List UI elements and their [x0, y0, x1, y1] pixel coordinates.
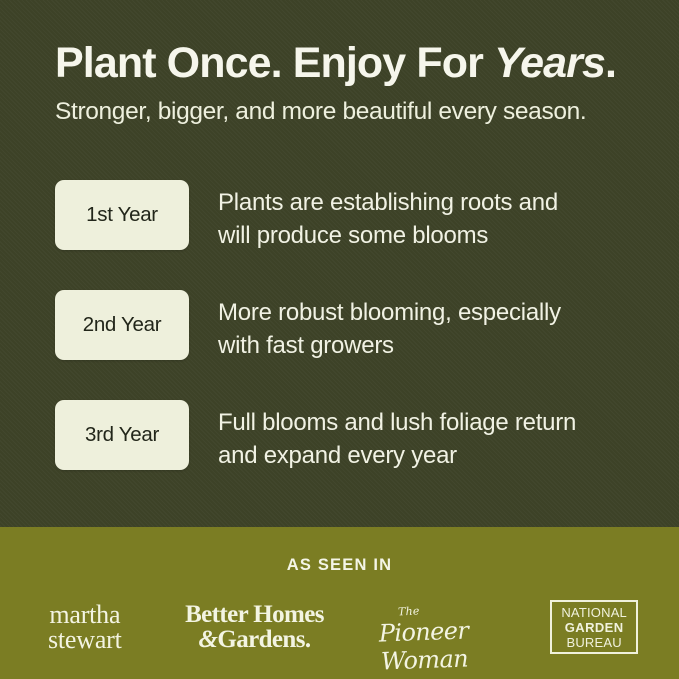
logo-line: martha: [48, 602, 122, 627]
description-line: will produce some blooms: [218, 219, 648, 252]
description-line: and expand every year: [218, 439, 648, 472]
headline-text-part1: Plant Once. Enjoy For: [55, 39, 494, 87]
year-badge-label: 3rd Year: [55, 400, 189, 470]
martha-stewart-wordmark: martha stewart: [48, 602, 122, 652]
logo-line: NATIONAL: [561, 605, 627, 620]
description-line: Full blooms and lush foliage return: [218, 406, 648, 439]
logo-line: Gardens.: [217, 626, 310, 653]
year-badge-label: 1st Year: [55, 180, 189, 250]
list-item: 1st Year Plants are establishing roots a…: [0, 180, 679, 290]
logo-line: BUREAU: [566, 635, 621, 650]
logo-line-the: The: [398, 604, 420, 618]
ampersand-glyph: &: [199, 626, 218, 653]
logo-line: GARDEN: [565, 620, 624, 635]
logo-line: Better Homes: [185, 602, 324, 627]
year-badge-3rd: 3rd Year: [55, 400, 189, 470]
description-line: with fast growers: [218, 329, 648, 362]
logo-line-two: &Gardens.: [185, 627, 324, 652]
press-band: AS SEEN IN martha stewart Better Homes &…: [0, 527, 679, 679]
description-line: Plants are establishing roots and: [218, 186, 648, 219]
year-badge-label: 2nd Year: [55, 290, 189, 360]
pioneer-woman-logo: The Pioneer Woman: [339, 589, 509, 665]
page-title: Plant Once. Enjoy For Years.: [55, 40, 616, 86]
year-badge-1st: 1st Year: [55, 180, 189, 250]
better-homes-gardens-wordmark: Better Homes &Gardens.: [185, 602, 324, 652]
timeline-description-2nd: More robust blooming, especially with fa…: [218, 296, 648, 362]
headline-text-part2: .: [605, 39, 616, 87]
description-line: More robust blooming, especially: [218, 296, 648, 329]
press-band-title: AS SEEN IN: [0, 556, 679, 575]
press-logo-row: martha stewart Better Homes &Gardens. Th…: [0, 589, 679, 665]
list-item: 2nd Year More robust blooming, especiall…: [0, 290, 679, 400]
headline-emphasis: Years: [494, 39, 605, 87]
national-garden-bureau-logo: NATIONAL GARDEN BUREAU: [509, 589, 679, 665]
national-garden-bureau-box: NATIONAL GARDEN BUREAU: [550, 600, 638, 654]
poster-root: Plant Once. Enjoy For Years. Stronger, b…: [0, 0, 679, 679]
martha-stewart-logo: martha stewart: [0, 589, 170, 665]
year-badge-2nd: 2nd Year: [55, 290, 189, 360]
hero-section: Plant Once. Enjoy For Years. Stronger, b…: [0, 0, 679, 527]
timeline-description-3rd: Full blooms and lush foliage return and …: [218, 406, 648, 472]
logo-line: Pioneer Woman: [338, 615, 510, 677]
timeline-description-1st: Plants are establishing roots and will p…: [218, 186, 648, 252]
logo-line: stewart: [48, 627, 122, 652]
timeline-list: 1st Year Plants are establishing roots a…: [0, 180, 679, 500]
pioneer-woman-wordmark: The Pioneer Woman: [339, 601, 509, 653]
page-subtitle: Stronger, bigger, and more beautiful eve…: [55, 97, 586, 126]
list-item: 3rd Year Full blooms and lush foliage re…: [0, 400, 679, 500]
better-homes-gardens-logo: Better Homes &Gardens.: [170, 589, 340, 665]
